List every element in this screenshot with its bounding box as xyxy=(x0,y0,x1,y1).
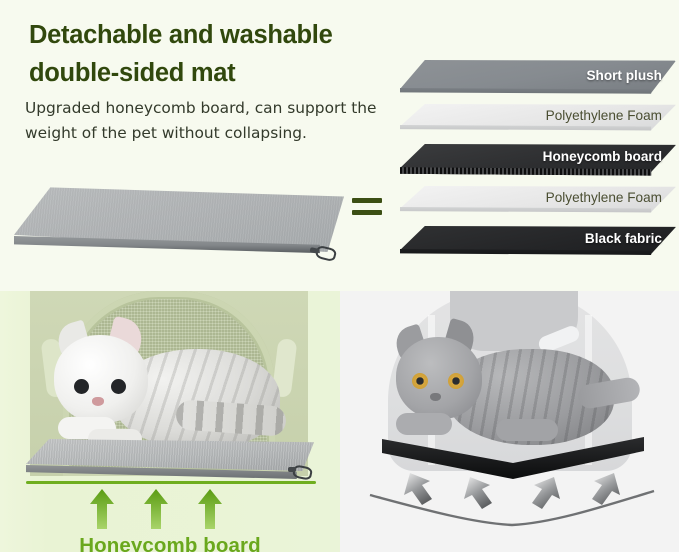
layer-edge xyxy=(400,207,676,218)
headline-line-1: Detachable and washable xyxy=(26,16,335,54)
cat-eye-right xyxy=(111,379,126,394)
cat-eye-left xyxy=(74,379,89,394)
white-cat-image xyxy=(48,317,288,457)
up-arrow-icon-2 xyxy=(144,489,168,529)
comparison-panel-pp-board: PP board xyxy=(340,291,679,552)
cat-nose xyxy=(92,397,104,406)
support-indicator-up xyxy=(26,481,316,539)
cat-head xyxy=(54,335,148,423)
layer-label-black-fabric: Black fabric xyxy=(585,229,662,249)
pp-board-sagging xyxy=(378,433,648,489)
comparison-panel-honeycomb: Honeycomb board xyxy=(0,291,340,552)
cat-paw-front xyxy=(396,413,452,435)
layer-label-short-plush: Short plush xyxy=(586,66,662,86)
layer-label-polyethylene-foam-bottom: Polyethylene Foam xyxy=(546,188,662,208)
headline: Detachable and washable double-sided mat xyxy=(24,16,424,92)
layer-stack-diagram: Short plush Polyethylene Foam Honeycomb … xyxy=(400,60,676,272)
equals-sign-icon xyxy=(352,196,382,220)
headline-line-2: double-sided mat xyxy=(26,54,238,92)
layer-edge xyxy=(400,125,676,136)
product-infographic: Detachable and washable double-sided mat… xyxy=(0,0,679,552)
up-arrow-icon-3 xyxy=(198,489,222,529)
layer-edge xyxy=(400,249,676,260)
subtitle-text: Upgraded honeycomb board, can support th… xyxy=(25,96,397,146)
cat-head xyxy=(396,337,482,419)
sag-curve-line xyxy=(370,491,654,525)
zipper-pull-icon xyxy=(288,466,310,478)
layer-label-polyethylene-foam-top: Polyethylene Foam xyxy=(546,106,662,126)
top-section: Detachable and washable double-sided mat… xyxy=(0,0,679,291)
mat-product-image xyxy=(14,186,344,274)
zipper-pull-icon xyxy=(310,247,334,260)
up-arrow-icon-1 xyxy=(90,489,114,529)
cat-eye-left xyxy=(412,373,428,389)
honeycomb-mat-flat xyxy=(26,439,314,483)
layer-label-honeycomb-board: Honeycomb board xyxy=(543,147,662,167)
cat-eye-right xyxy=(448,373,464,389)
cat-nose xyxy=(430,393,441,401)
layer-edge xyxy=(400,88,676,99)
caption-honeycomb-board: Honeycomb board xyxy=(0,534,340,552)
comparison-section: Honeycomb board xyxy=(0,291,679,552)
